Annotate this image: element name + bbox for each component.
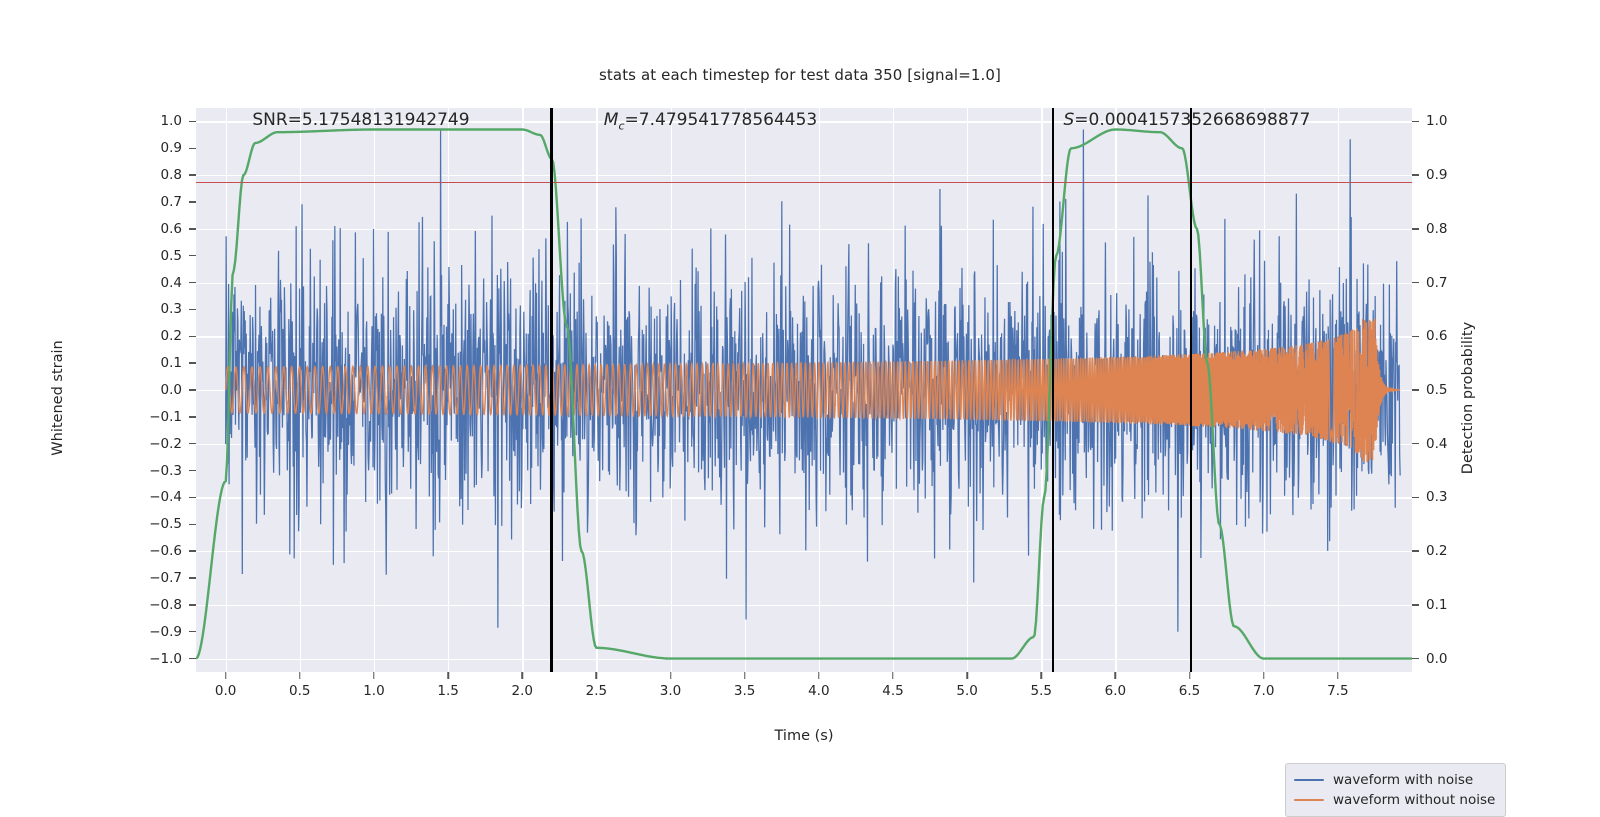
y-tick-left: 0.4 <box>161 275 196 291</box>
annotation-snr-value: 5.17548131942749 <box>302 110 470 130</box>
annotation-mc-symbol: M <box>604 110 619 130</box>
legend-swatch-with-noise <box>1294 779 1324 782</box>
x-tick: 5.5 <box>1031 672 1052 699</box>
y-tick-right: 0.0 <box>1412 651 1447 667</box>
x-tick: 3.0 <box>660 672 681 699</box>
legend: waveform with noise waveform without noi… <box>1285 763 1506 817</box>
y-tick-right: 0.2 <box>1412 543 1447 559</box>
x-axis-ticks: 0.00.51.01.52.02.53.03.54.04.55.05.56.06… <box>196 672 1412 712</box>
y-axis-ticks-left: 1.00.90.80.70.60.50.40.30.20.10.0−0.1−0.… <box>0 108 196 672</box>
x-tick: 0.0 <box>215 672 236 699</box>
y-tick-left: 1.0 <box>161 113 196 129</box>
x-tick: 3.5 <box>734 672 755 699</box>
x-tick: 7.0 <box>1253 672 1274 699</box>
legend-item: waveform with noise <box>1294 770 1495 790</box>
x-tick: 2.5 <box>586 672 607 699</box>
legend-label-with-noise: waveform with noise <box>1333 772 1473 788</box>
annotation-snr-label: SNR= <box>252 110 302 130</box>
legend-label-without-noise: waveform without noise <box>1333 792 1495 808</box>
y-tick-left: −0.7 <box>149 570 196 586</box>
event-marker-line <box>550 108 552 672</box>
detection-threshold-line <box>196 182 1412 184</box>
event-marker-line <box>1190 108 1192 672</box>
annotation-s-equals: = <box>1074 110 1088 130</box>
plot-area: SNR=5.17548131942749 Mc=7.47954177856445… <box>196 108 1412 672</box>
annotation-snr: SNR=5.17548131942749 <box>252 110 469 130</box>
annotation-chirp-mass: Mc=7.479541778564453 <box>604 110 817 132</box>
x-tick: 5.0 <box>956 672 977 699</box>
annotation-mc-value: 7.479541778564453 <box>639 110 817 130</box>
y-tick-left: −0.8 <box>149 597 196 613</box>
x-tick: 4.5 <box>882 672 903 699</box>
y-tick-left: −0.2 <box>149 436 196 452</box>
x-tick: 6.5 <box>1179 672 1200 699</box>
y-tick-left: 0.3 <box>161 301 196 317</box>
event-marker-line <box>1052 108 1054 672</box>
y-tick-left: 0.1 <box>161 355 196 371</box>
y-tick-left: 0.5 <box>161 248 196 264</box>
y-tick-left: −0.1 <box>149 409 196 425</box>
y-tick-left: 0.8 <box>161 167 196 183</box>
y-tick-right: 0.9 <box>1412 167 1447 183</box>
x-tick: 1.0 <box>363 672 384 699</box>
annotation-s-symbol: S <box>1064 110 1075 130</box>
y-tick-right: 0.8 <box>1412 221 1447 237</box>
x-tick: 7.5 <box>1327 672 1348 699</box>
x-axis-label: Time (s) <box>196 728 1412 744</box>
annotation-significance: S=0.0004157352668698877 <box>1064 110 1311 130</box>
legend-swatch-without-noise <box>1294 799 1324 802</box>
x-tick: 2.0 <box>511 672 532 699</box>
y-tick-left: 0.6 <box>161 221 196 237</box>
x-tick: 0.5 <box>289 672 310 699</box>
y-tick-right: 0.4 <box>1412 436 1447 452</box>
x-tick: 6.0 <box>1105 672 1126 699</box>
x-tick: 4.0 <box>808 672 829 699</box>
y-tick-right: 0.7 <box>1412 275 1447 291</box>
y-tick-left: −0.9 <box>149 624 196 640</box>
y-tick-right: 0.1 <box>1412 597 1447 613</box>
y-tick-right: 1.0 <box>1412 113 1447 129</box>
marker-layer <box>196 108 1412 672</box>
y-axis-ticks-right: 1.00.90.80.70.60.50.40.30.20.10.0 <box>1412 108 1592 672</box>
y-tick-right: 0.5 <box>1412 382 1447 398</box>
y-tick-left: 0.2 <box>161 328 196 344</box>
annotation-mc-equals: = <box>625 110 639 130</box>
y-tick-right: 0.6 <box>1412 328 1447 344</box>
y-tick-right: 0.3 <box>1412 489 1447 505</box>
y-tick-left: −0.4 <box>149 489 196 505</box>
y-tick-left: 0.7 <box>161 194 196 210</box>
legend-item: waveform without noise <box>1294 790 1495 810</box>
y-tick-left: −1.0 <box>149 651 196 667</box>
annotation-s-value: 0.0004157352668698877 <box>1089 110 1311 130</box>
y-tick-left: 0.9 <box>161 140 196 156</box>
x-tick: 1.5 <box>437 672 458 699</box>
figure-canvas: stats at each timestep for test data 350… <box>0 0 1600 800</box>
y-tick-left: 0.0 <box>161 382 196 398</box>
chart-title: stats at each timestep for test data 350… <box>0 66 1600 84</box>
y-tick-left: −0.5 <box>149 516 196 532</box>
y-tick-left: −0.3 <box>149 463 196 479</box>
y-tick-left: −0.6 <box>149 543 196 559</box>
